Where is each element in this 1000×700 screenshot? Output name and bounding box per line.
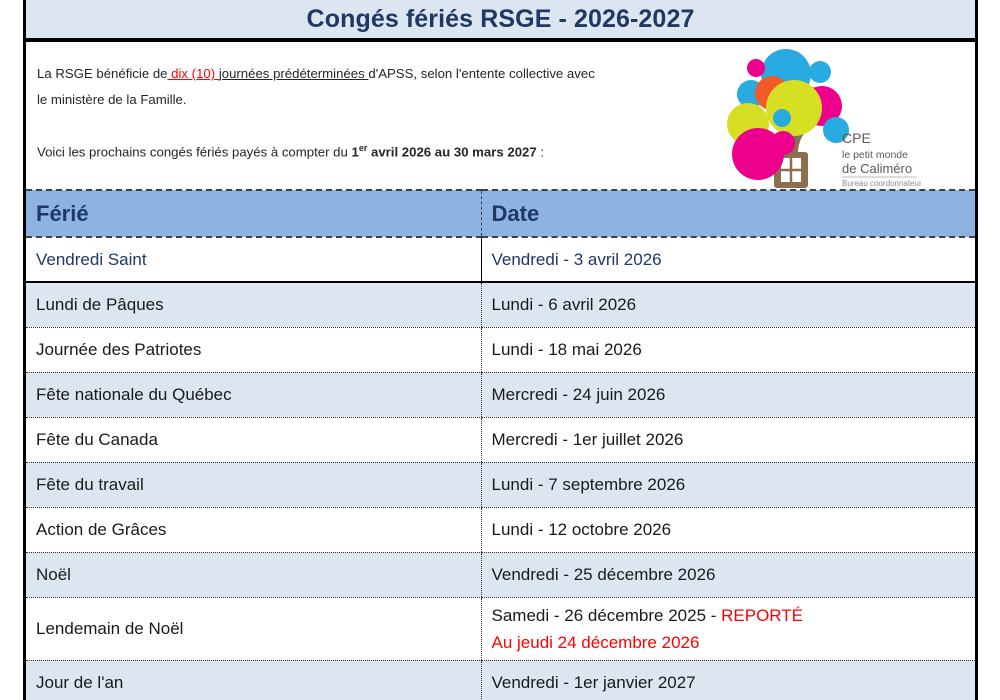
cell-ferie: Jour de l'an xyxy=(26,660,481,700)
cell-ferie: Action de Grâces xyxy=(26,507,481,552)
cell-ferie: Journée des Patriotes xyxy=(26,327,481,372)
status-badge-reporte: REPORTÉ xyxy=(721,606,803,625)
cell-ferie: Fête du Canada xyxy=(26,417,481,462)
intro-line1-suffix: d'APSS, selon l'entente collective avec xyxy=(368,66,594,81)
table-row: Fête nationale du Québec Mercredi - 24 j… xyxy=(26,372,975,417)
page-title: Congés fériés RSGE - 2026-2027 xyxy=(307,5,695,34)
logo-tagline-3: Bureau coordonnateur xyxy=(842,179,921,188)
cell-ferie: Fête nationale du Québec xyxy=(26,372,481,417)
intro-paragraph-1: La RSGE bénéficie de dix (10) journées p… xyxy=(37,61,687,165)
intro-line2: le ministère de la Famille. xyxy=(37,92,187,107)
cell-date: Vendredi - 3 avril 2026 xyxy=(481,237,975,282)
logo-name-text: CPE xyxy=(842,130,871,146)
cell-date: Samedi - 26 décembre 2025 - REPORTÉ Au j… xyxy=(481,597,975,660)
table-row: Vendredi Saint Vendredi - 3 avril 2026 xyxy=(26,237,975,282)
table-header-row: Férié Date xyxy=(26,190,975,237)
logo-tagline-2: de Caliméro xyxy=(842,161,912,176)
cell-date: Lundi - 6 avril 2026 xyxy=(481,282,975,327)
intro-line3-suffix: : xyxy=(537,144,544,159)
tree-logo-icon: CPE le petit monde de Caliméro Bureau co… xyxy=(726,46,921,188)
column-header-date: Date xyxy=(481,190,975,237)
cell-date: Lundi - 7 septembre 2026 xyxy=(481,462,975,507)
intro-highlight-dix: dix (10) xyxy=(168,66,219,81)
cell-date: Vendredi - 25 décembre 2026 xyxy=(481,552,975,597)
cell-ferie: Lendemain de Noël xyxy=(26,597,481,660)
table-row: Fête du Canada Mercredi - 1er juillet 20… xyxy=(26,417,975,462)
document-frame: Congés fériés RSGE - 2026-2027 La RSGE b… xyxy=(23,0,978,700)
cell-date-line-2: Au jeudi 24 décembre 2026 xyxy=(492,629,976,656)
table-row: Noël Vendredi - 25 décembre 2026 xyxy=(26,552,975,597)
intro-underline-journees: journées prédéterminées xyxy=(219,66,369,81)
table-row: Lundi de Pâques Lundi - 6 avril 2026 xyxy=(26,282,975,327)
cell-date: Mercredi - 24 juin 2026 xyxy=(481,372,975,417)
table-row: Jour de l'an Vendredi - 1er janvier 2027 xyxy=(26,660,975,700)
intro-line3-prefix: Voici les prochains congés fériés payés … xyxy=(37,144,351,159)
cell-date: Lundi - 12 octobre 2026 xyxy=(481,507,975,552)
document-title-band: Congés fériés RSGE - 2026-2027 xyxy=(26,0,975,42)
cell-ferie: Noël xyxy=(26,552,481,597)
cpe-logo: CPE le petit monde de Caliméro Bureau co… xyxy=(726,46,921,188)
table-row: Journée des Patriotes Lundi - 18 mai 202… xyxy=(26,327,975,372)
holidays-table: Férié Date Vendredi Saint Vendredi - 3 a… xyxy=(26,189,975,700)
cell-ferie: Lundi de Pâques xyxy=(26,282,481,327)
cell-date-line-1: Samedi - 26 décembre 2025 - REPORTÉ xyxy=(492,602,976,629)
logo-tagline-1: le petit monde xyxy=(842,149,908,161)
intro-line3-bold-1: 1 xyxy=(351,144,358,159)
table-row: Action de Grâces Lundi - 12 octobre 2026 xyxy=(26,507,975,552)
cell-ferie: Fête du travail xyxy=(26,462,481,507)
intro-line3-bold-2: avril 2026 au 30 mars 2027 xyxy=(367,144,536,159)
cell-date: Vendredi - 1er janvier 2027 xyxy=(481,660,975,700)
cell-date: Lundi - 18 mai 2026 xyxy=(481,327,975,372)
page-root: Congés fériés RSGE - 2026-2027 La RSGE b… xyxy=(0,0,1000,700)
cell-date: Mercredi - 1er juillet 2026 xyxy=(481,417,975,462)
intro-paragraph-2: Voici les prochains congés fériés payés … xyxy=(37,135,687,165)
date-text-black: Samedi - 26 décembre 2025 - xyxy=(492,606,722,625)
column-header-ferie: Férié xyxy=(26,190,481,237)
intro-line1-prefix: La RSGE bénéficie de xyxy=(37,66,168,81)
cell-ferie: Vendredi Saint xyxy=(26,237,481,282)
table-row: Fête du travail Lundi - 7 septembre 2026 xyxy=(26,462,975,507)
table-row: Lendemain de Noël Samedi - 26 décembre 2… xyxy=(26,597,975,660)
